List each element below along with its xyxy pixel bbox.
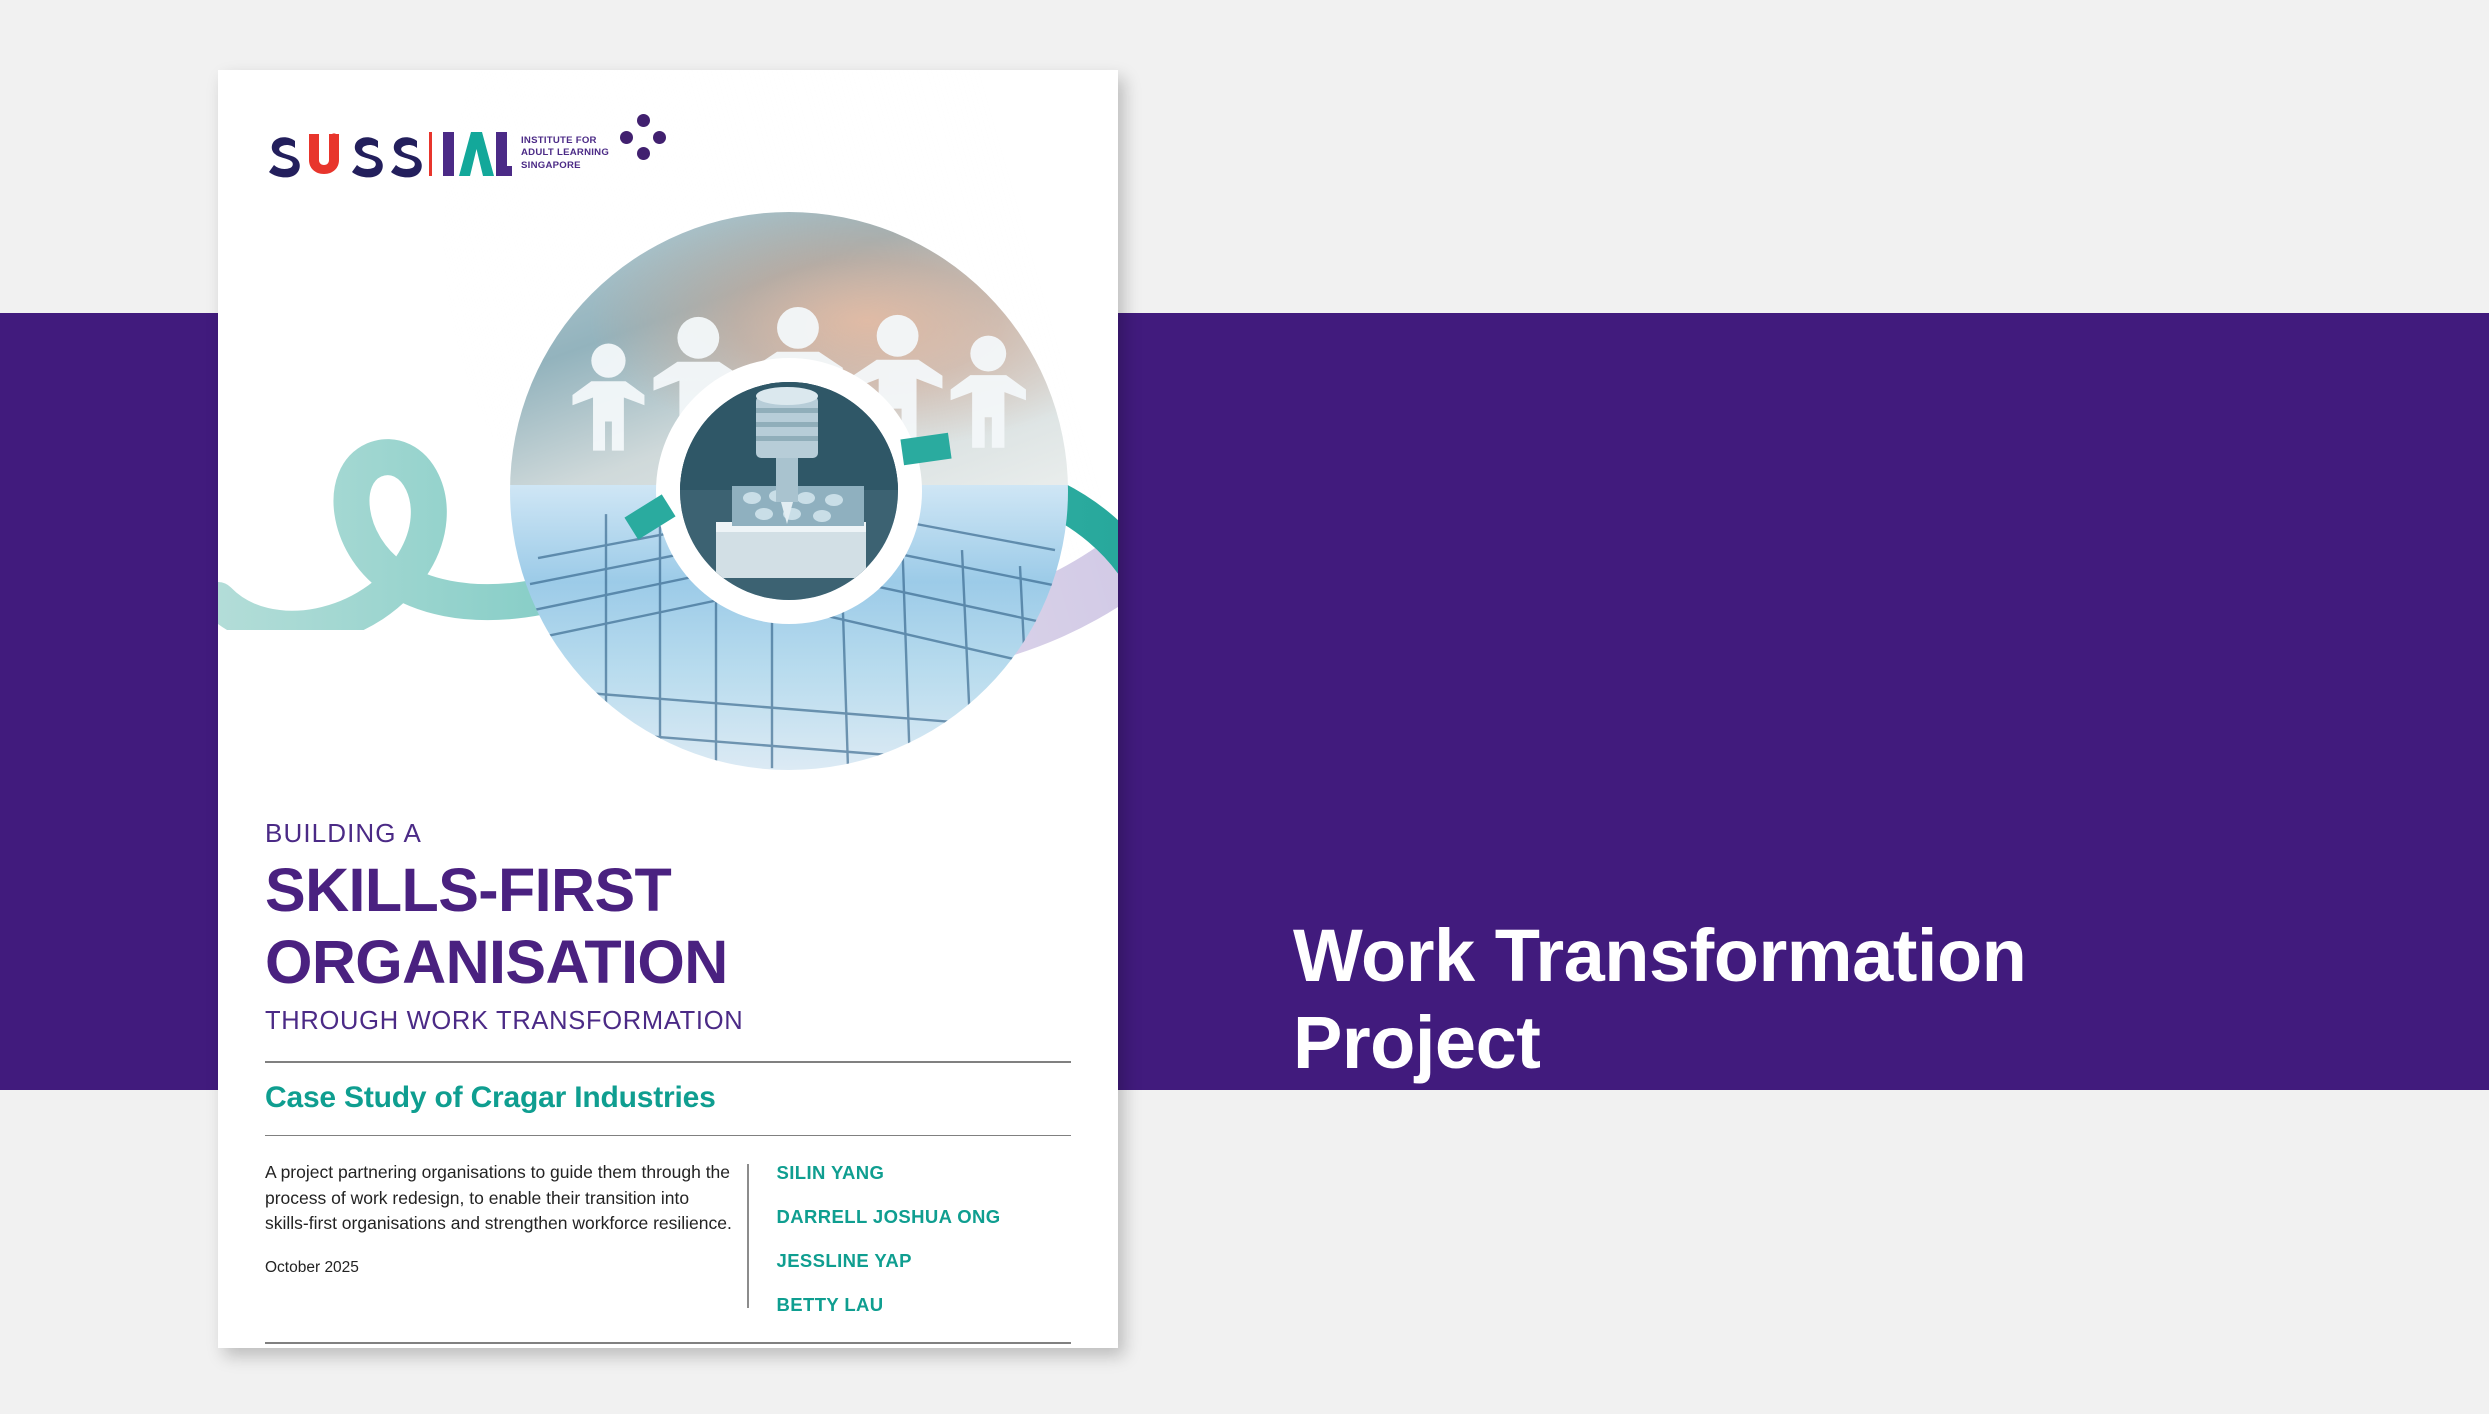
cover-text-block: BUILDING A SKILLS-FIRST ORGANISATION THR… — [265, 818, 1071, 1344]
headline-line-1: SKILLS-FIRST — [265, 860, 1071, 921]
cnc-machine-graphic — [680, 382, 898, 600]
publication-date: October 2025 — [265, 1259, 735, 1277]
eyebrow-text: BUILDING A — [265, 818, 1071, 849]
divider-above-case-study — [265, 1061, 1071, 1063]
headline-line-2: ORGANISATION — [265, 932, 1071, 993]
band-title: Work Transformation Project — [1293, 913, 2293, 1086]
suss-ial-logo-mark — [265, 130, 512, 182]
dot-cluster-icon — [620, 114, 666, 160]
dot-bottom — [637, 147, 650, 160]
dot-left — [620, 131, 633, 144]
author-list: SILIN YANG DARRELL JOSHUA ONG JESSLINE Y… — [777, 1160, 1001, 1316]
author-name: BETTY LAU — [777, 1294, 1001, 1316]
slide-canvas: Work Transformation Project — [0, 0, 2489, 1414]
case-study-title: Case Study of Cragar Industries — [265, 1081, 1071, 1115]
divider-footer — [265, 1342, 1071, 1344]
dot-top — [637, 114, 650, 127]
author-name: JESSLINE YAP — [777, 1250, 1001, 1272]
cover-meta-row: A project partnering organisations to gu… — [265, 1160, 1071, 1316]
logo-tagline: INSTITUTE FOR ADULT LEARNING SINGAPORE — [521, 135, 609, 172]
author-divider — [747, 1164, 749, 1308]
report-cover-page[interactable]: INSTITUTE FOR ADULT LEARNING SINGAPORE — [218, 70, 1118, 1348]
project-blurb: A project partnering organisations to gu… — [265, 1160, 735, 1237]
author-name: DARRELL JOSHUA ONG — [777, 1206, 1001, 1228]
hero-machining-photo — [680, 382, 898, 600]
subhead-text: THROUGH WORK TRANSFORMATION — [265, 1007, 1071, 1036]
suss-ial-logo: INSTITUTE FOR ADULT LEARNING SINGAPORE — [265, 125, 609, 187]
dot-right — [653, 131, 666, 144]
hero-circle-image — [510, 212, 1068, 770]
author-name: SILIN YANG — [777, 1162, 1001, 1184]
cover-meta-left: A project partnering organisations to gu… — [265, 1160, 735, 1277]
divider-below-case-study — [265, 1135, 1071, 1137]
